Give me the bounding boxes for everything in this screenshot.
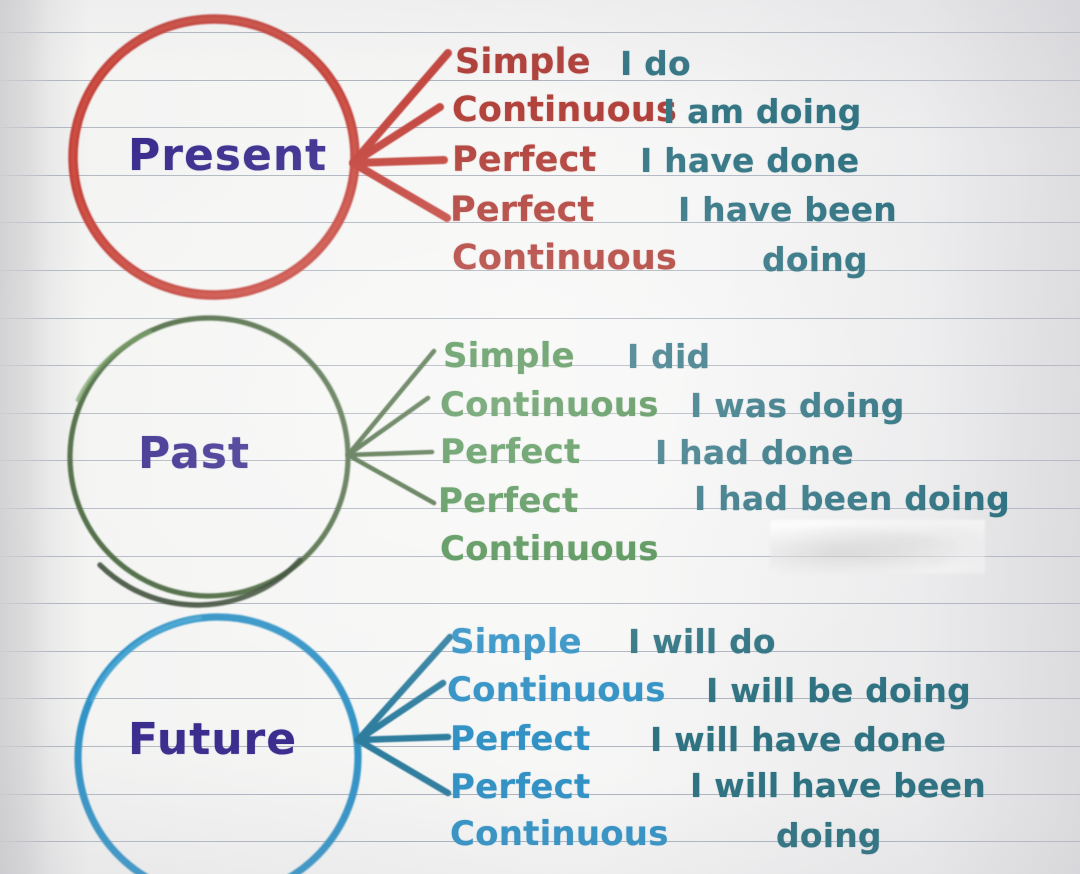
future-arrow-fan [358, 637, 450, 793]
present-arrow-3 [353, 160, 444, 163]
past-row-3-example: I had done [655, 433, 854, 472]
past-arrow-fan [348, 351, 434, 503]
past-row-5-label: Continuous [440, 529, 659, 569]
future-row-3-label: Perfect [450, 719, 590, 759]
future-row-2-label: Continuous [447, 670, 666, 710]
past-arrow-4 [348, 455, 434, 503]
future-row-3-example: I will have done [650, 720, 946, 759]
future-row-5-example: doing [776, 816, 882, 855]
present-row-4-example: I have been [678, 190, 897, 229]
past-row-1-example: I did [627, 337, 710, 376]
future-circle-highlight [92, 618, 200, 700]
future-row-1-example: I will do [628, 622, 776, 661]
future-arrow-4 [358, 740, 448, 793]
future-row-4-label: Perfect [450, 767, 590, 807]
past-row-2-label: Continuous [440, 385, 659, 425]
past-row-4-example: I had been doing [694, 479, 1010, 518]
present-arrow-fan [353, 53, 448, 218]
present-row-5-example: doing [762, 240, 868, 279]
past-row-4-label: Perfect [438, 481, 578, 521]
past-row-3-label: Perfect [440, 432, 580, 472]
present-row-3-label: Perfect [452, 140, 597, 180]
future-row-2-example: I will be doing [706, 671, 971, 710]
present-row-1-example: I do [620, 44, 691, 83]
past-row-1-label: Simple [443, 336, 575, 376]
present-row-5-label: Continuous [452, 238, 677, 278]
past-arrow-3 [348, 452, 432, 455]
notebook-page: Present Past Future Simple I do Continuo… [0, 0, 1080, 874]
present-row-2-example: I am doing [663, 92, 862, 131]
present-row-2-label: Continuous [452, 90, 677, 130]
future-row-1-label: Simple [450, 622, 582, 662]
future-row-4-example: I will have been [690, 766, 986, 805]
circle-label-past: Past [138, 428, 250, 479]
present-row-1-label: Simple [455, 42, 591, 82]
present-arrow-4 [353, 163, 447, 218]
future-arrow-3 [358, 737, 448, 740]
circle-label-future: Future [128, 714, 297, 765]
circle-label-present: Present [128, 130, 327, 181]
present-row-3-example: I have done [640, 141, 859, 180]
present-row-4-label: Perfect [450, 190, 595, 230]
future-row-5-label: Continuous [450, 814, 669, 854]
past-row-2-example: I was doing [690, 386, 905, 425]
